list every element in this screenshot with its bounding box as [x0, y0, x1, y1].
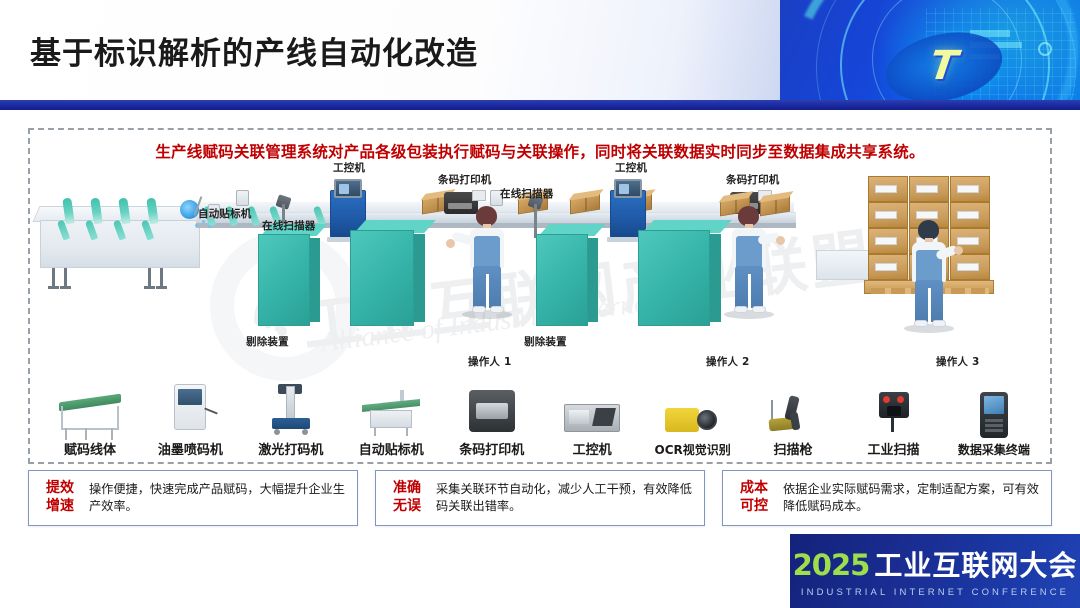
- operator-shadow: [724, 310, 774, 319]
- equipment-item-ocr[interactable]: OCR视觉识别: [643, 382, 743, 458]
- benefit-keyword: 成本 可控: [731, 480, 777, 516]
- equipment-label: OCR视觉识别: [655, 441, 731, 458]
- footer-blank-area: [0, 534, 790, 608]
- header-blue-bar: [0, 100, 1080, 110]
- page-header: T 基于标识解析的产线自动化改造: [0, 0, 1080, 110]
- conference-logo: 2025 工业互联网大会 INDUSTRIAL INTERNET CONFERE…: [790, 534, 1080, 608]
- barcode-printer-icon: [469, 380, 515, 436]
- benefit-keyword: 提效 增速: [37, 480, 83, 516]
- label-reject-device-1: 剔除装置: [246, 334, 289, 349]
- production-line-illustration: 自动贴标机 在线扫描器 工控机 条码打印机 在线扫描器 工控机 条码打印机 剔除…: [30, 158, 1052, 398]
- online-scanner-arm-2: [530, 196, 540, 236]
- benefit-keyword-line1: 准确: [384, 480, 430, 498]
- packing-machine-1: [350, 230, 414, 326]
- page-title: 基于标识解析的产线自动化改造: [30, 28, 478, 73]
- benefit-card-accuracy[interactable]: 准确 无误 采集关联环节自动化，减少人工干预，有效降低码关联出错率。: [375, 470, 705, 526]
- benefit-keyword-line2: 增速: [37, 498, 83, 516]
- reject-device-2-side: [588, 238, 598, 322]
- operator-legs: [915, 280, 943, 322]
- inkjet-printer-icon: [170, 380, 210, 436]
- conference-name-cn: 工业互联网大会: [874, 544, 1077, 584]
- diagram-frame: 生产线赋码关联管理系统对产品各级包装执行赋码与关联操作，同时将关联数据实时同步至…: [28, 128, 1052, 464]
- t-emblem-icon: T: [927, 46, 960, 86]
- barcode-scanner-gun-icon: [767, 380, 819, 436]
- benefit-description: 采集关联环节自动化，减少人工干预，有效降低码关联出错率。: [436, 481, 696, 516]
- ipc-screen: [334, 179, 362, 198]
- benefit-card-efficiency[interactable]: 提效 增速 操作便捷，快速完成产品赋码，大幅提升企业生产效率。: [28, 470, 358, 526]
- label-barcode-printer-1: 条码打印机: [438, 172, 492, 187]
- stacked-carton: [950, 176, 990, 202]
- operator-shadow: [904, 324, 954, 333]
- equipment-item-industrial-scanner[interactable]: 工业扫描: [844, 380, 944, 458]
- reject-device-1: [258, 234, 310, 326]
- label-industrial-pc-1: 工控机: [333, 160, 365, 175]
- label-online-scanner-2: 在线扫描器: [500, 186, 554, 201]
- benefit-keyword-line1: 成本: [731, 480, 777, 498]
- benefit-keyword-line1: 提效: [37, 480, 83, 498]
- equipment-label: 赋码线体: [64, 439, 116, 458]
- stacked-carton: [950, 254, 990, 280]
- equipment-item-labeller[interactable]: 自动贴标机: [341, 380, 441, 458]
- operator-legs: [473, 266, 501, 308]
- industrial-pc-icon: [564, 380, 620, 436]
- equipment-label: 激光打码机: [258, 439, 323, 458]
- equipment-item-conveyor[interactable]: 赋码线体: [40, 380, 140, 458]
- equipment-item-scanner-gun[interactable]: 扫描枪: [743, 380, 843, 458]
- label-online-scanner-1: 在线扫描器: [262, 218, 316, 233]
- stacked-carton: [950, 202, 990, 228]
- industrial-pc-2: [610, 176, 646, 238]
- reject-device-1-side: [310, 238, 320, 322]
- label-barcode-printer-2: 条码打印机: [726, 172, 780, 187]
- operator-head: [918, 220, 939, 240]
- equipment-item-industrial-pc[interactable]: 工控机: [542, 380, 642, 458]
- operator-overall: [474, 236, 500, 270]
- tech-circle-node: [1038, 42, 1052, 56]
- packing-machine-1-side: [414, 234, 425, 322]
- operator-head: [738, 206, 759, 226]
- industrial-scanner-icon: [873, 380, 915, 436]
- packing-machine-2-side: [710, 234, 721, 322]
- scanner-pole: [534, 204, 537, 238]
- benefit-card-cost[interactable]: 成本 可控 依据企业实际赋码需求，定制适配方案，可有效降低赋码成本。: [722, 470, 1052, 526]
- equipment-gallery: 赋码线体 油墨喷码机 激光打码机 自: [30, 366, 1052, 462]
- label-reject-device-2: 剔除装置: [524, 334, 567, 349]
- label-auto-labeller: 自动贴标机: [198, 206, 252, 221]
- auto-labeller-icon: [360, 380, 422, 436]
- benefit-description: 依据企业实际赋码需求，定制适配方案，可有效降低赋码成本。: [783, 481, 1043, 516]
- label-industrial-pc-2: 工控机: [615, 160, 647, 175]
- benefit-description: 操作便捷，快速完成产品赋码，大幅提升企业生产效率。: [89, 481, 349, 516]
- conference-year: 2025: [793, 548, 870, 582]
- ocr-camera-icon: [665, 382, 721, 438]
- equipment-label: 自动贴标机: [359, 439, 424, 458]
- benefit-keyword-line2: 可控: [731, 498, 777, 516]
- operator-hand: [776, 236, 785, 245]
- operator-shadow: [462, 310, 512, 319]
- header-tech-graphic: T: [780, 0, 1080, 110]
- benefits-row: 提效 增速 操作便捷，快速完成产品赋码，大幅提升企业生产效率。 准确 无误 采集…: [28, 470, 1052, 526]
- equipment-label: 条码打印机: [459, 439, 524, 458]
- operator-1-figure: [460, 206, 514, 316]
- stacked-carton: [868, 176, 908, 202]
- operator-2-figure: [722, 206, 776, 316]
- equipment-label: 工业扫描: [867, 439, 919, 458]
- ipc-screen: [614, 179, 642, 198]
- laser-marker-icon: [264, 380, 318, 436]
- stacked-carton: [909, 176, 949, 202]
- operator-hand: [954, 246, 963, 255]
- intake-table-legs: [52, 268, 192, 290]
- equipment-item-pda[interactable]: 数据采集终端: [944, 382, 1044, 458]
- conveyor-icon: [57, 380, 123, 436]
- benefit-keyword: 准确 无误: [384, 480, 430, 516]
- conference-logo-main: 2025 工业互联网大会: [793, 544, 1078, 584]
- printed-label: [472, 190, 486, 201]
- equipment-label: 数据采集终端: [958, 441, 1030, 458]
- pda-terminal-icon: [980, 382, 1008, 438]
- equipment-label: 油墨喷码机: [158, 439, 223, 458]
- packing-machine-2: [638, 230, 710, 326]
- online-scanner-unit: [236, 190, 249, 206]
- operator-legs: [735, 266, 763, 308]
- equipment-item-barcode-printer[interactable]: 条码打印机: [442, 380, 542, 458]
- equipment-label: 工控机: [573, 439, 612, 458]
- operator-hand: [446, 239, 455, 248]
- conference-name-en: INDUSTRIAL INTERNET CONFERENCE: [801, 587, 1069, 598]
- operator-head: [476, 206, 497, 226]
- benefit-keyword-line2: 无误: [384, 498, 430, 516]
- reject-device-2: [536, 234, 588, 326]
- equipment-item-laser[interactable]: 激光打码机: [241, 380, 341, 458]
- equipment-item-inkjet[interactable]: 油墨喷码机: [140, 380, 240, 458]
- equipment-label: 扫描枪: [774, 439, 813, 458]
- operator-3-figure: [902, 220, 956, 330]
